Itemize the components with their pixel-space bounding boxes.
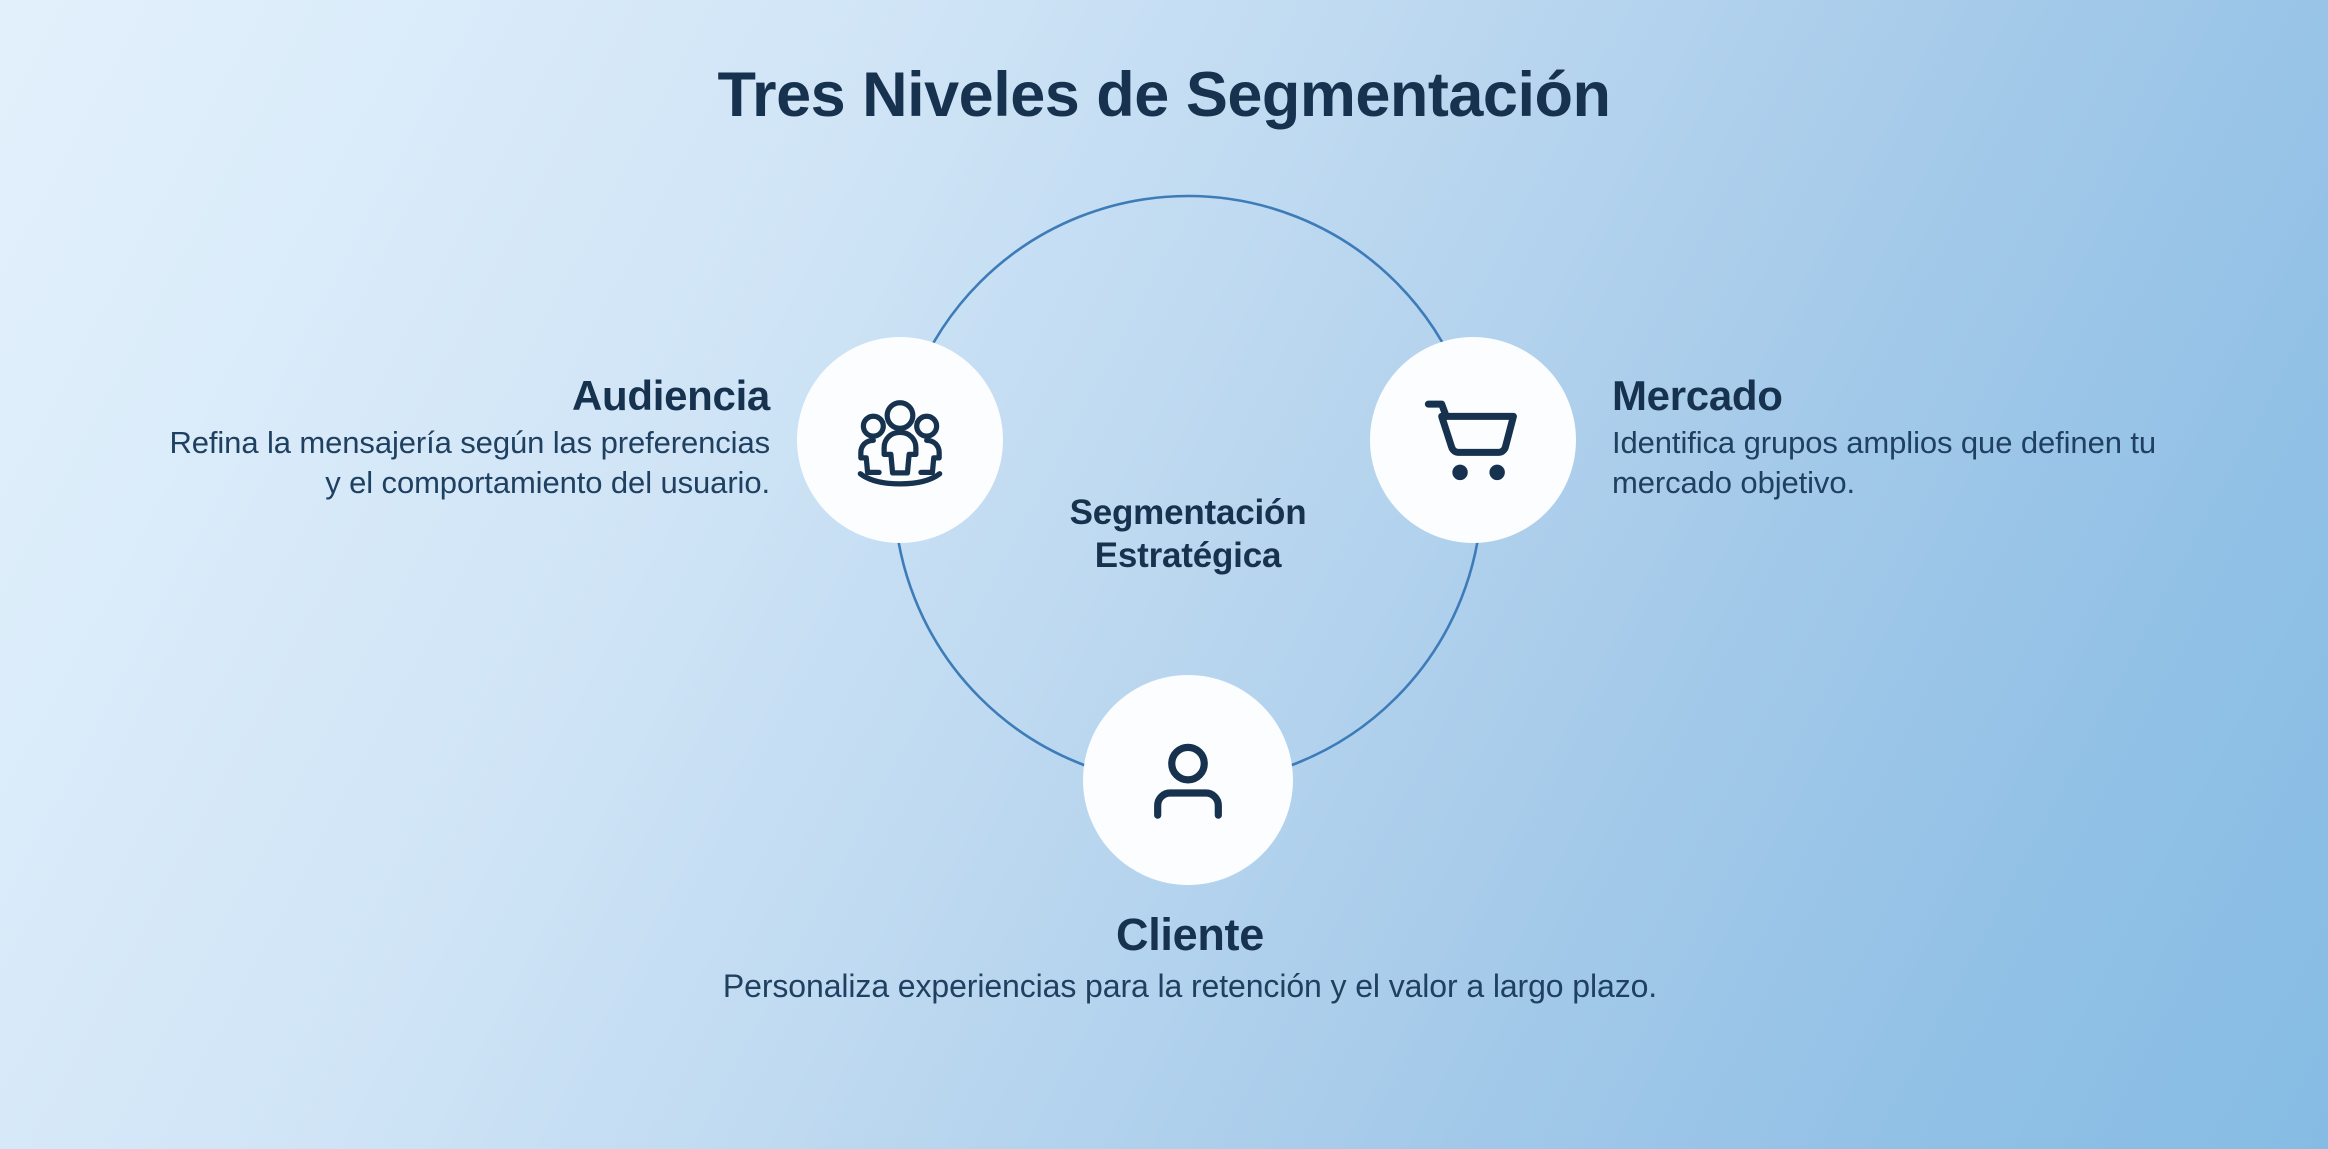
node-audiencia[interactable] (797, 337, 1003, 543)
center-label-line-1: Segmentación (988, 492, 1388, 535)
users-group-icon (846, 386, 954, 494)
user-person-icon (1138, 730, 1238, 830)
label-desc-cliente: Personaliza experiencias para la retenci… (690, 966, 1690, 1008)
label-heading-mercado: Mercado (1612, 372, 2232, 419)
page-title: Tres Niveles de Segmentación (0, 62, 2328, 128)
shopping-cart-icon (1417, 384, 1529, 496)
center-label-line-2: Estratégica (988, 535, 1388, 578)
label-heading-audiencia: Audiencia (150, 372, 770, 419)
label-block-audiencia: Audiencia Refina la mensajería según las… (150, 372, 770, 504)
node-cliente[interactable] (1083, 675, 1293, 885)
label-block-mercado: Mercado Identifica grupos amplios que de… (1612, 372, 2232, 504)
label-desc-mercado: Identifica grupos amplios que definen tu… (1612, 423, 2232, 504)
label-heading-cliente: Cliente (690, 910, 1690, 960)
node-mercado[interactable] (1370, 337, 1576, 543)
center-label: Segmentación Estratégica (988, 492, 1388, 577)
label-block-cliente: Cliente Personaliza experiencias para la… (690, 910, 1690, 1008)
label-desc-audiencia: Refina la mensajería según las preferenc… (150, 423, 770, 504)
infographic-canvas: Tres Niveles de Segmentación Segmentació… (0, 0, 2328, 1149)
